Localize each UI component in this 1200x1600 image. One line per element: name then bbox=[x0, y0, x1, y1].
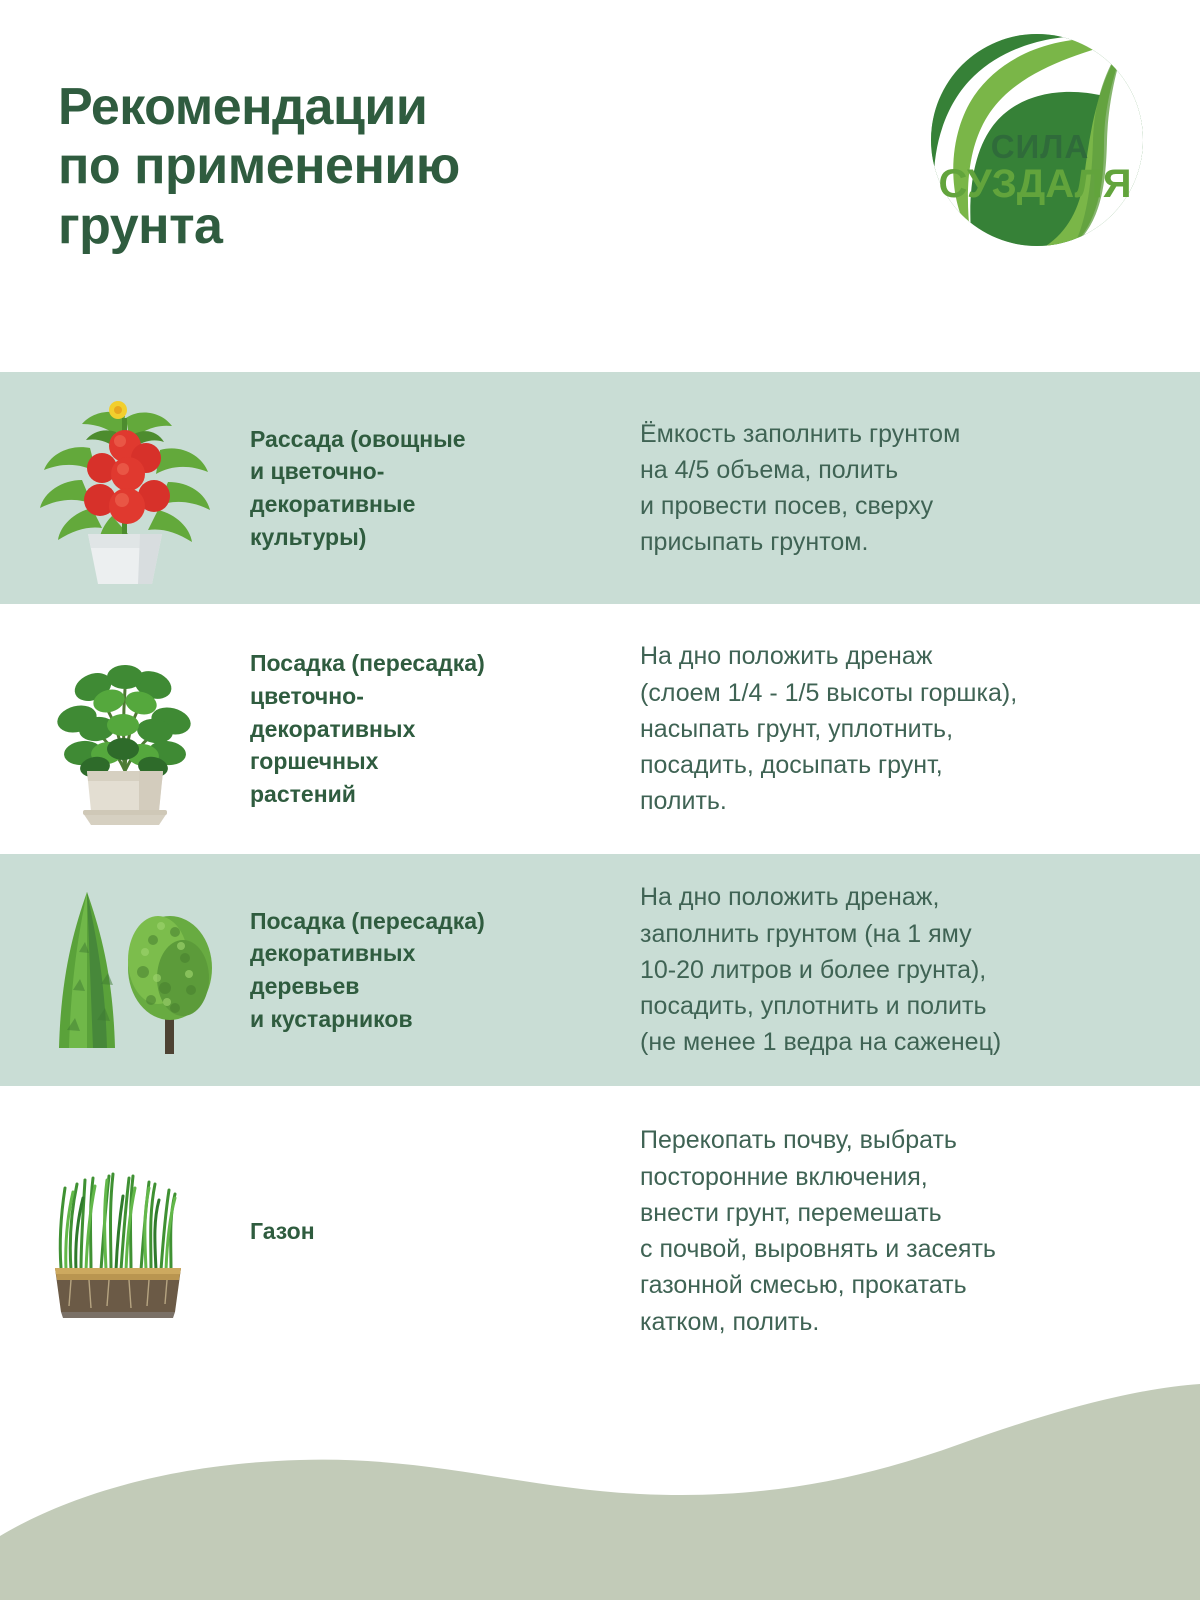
lawn-turf-block-icon bbox=[25, 1136, 225, 1326]
row-description: Ёмкость заполнить грунтом на 4/5 объема,… bbox=[640, 416, 1200, 561]
row-description: Перекопать почву, выбрать посторонние вк… bbox=[640, 1122, 1200, 1340]
row-title: Рассада (овощные и цветочно- декоративны… bbox=[250, 423, 640, 554]
page-header: Рекомендации по применению грунта bbox=[0, 0, 1200, 372]
row-title: Посадка (пересадка) цветочно- декоративн… bbox=[250, 647, 640, 810]
row-image-cell bbox=[0, 1086, 250, 1376]
table-row: Посадка (пересадка) цветочно- декоративн… bbox=[0, 604, 1200, 854]
row-title: Газон bbox=[250, 1215, 640, 1248]
conifer-and-shrub-trees-icon bbox=[25, 880, 225, 1060]
tomato-plant-in-pot-icon bbox=[30, 388, 220, 588]
row-description: На дно положить дренаж, заполнить грунто… bbox=[640, 879, 1200, 1060]
row-title: Посадка (пересадка) декоративных деревье… bbox=[250, 905, 640, 1036]
row-description: На дно положить дренаж (слоем 1/4 - 1/5 … bbox=[640, 638, 1200, 819]
table-row: Рассада (овощные и цветочно- декоративны… bbox=[0, 372, 1200, 604]
row-image-cell bbox=[0, 604, 250, 854]
potted-houseplant-icon bbox=[35, 629, 215, 829]
recommendation-rows: Рассада (овощные и цветочно- декоративны… bbox=[0, 372, 1200, 1376]
table-row: Газон Перекопать почву, выбрать посторон… bbox=[0, 1086, 1200, 1376]
brand-logo: СИЛА СУЗДАЛЯ bbox=[912, 18, 1162, 268]
leaf-circle-logo-icon bbox=[912, 18, 1162, 268]
table-row: Посадка (пересадка) декоративных деревье… bbox=[0, 854, 1200, 1086]
row-image-cell bbox=[0, 372, 250, 604]
bottom-wave-decoration bbox=[0, 1360, 1200, 1600]
wave-shape-icon bbox=[0, 1360, 1200, 1600]
row-image-cell bbox=[0, 854, 250, 1086]
page-title: Рекомендации по применению грунта bbox=[58, 78, 460, 256]
infographic-page: Рекомендации по применению грунта bbox=[0, 0, 1200, 1600]
